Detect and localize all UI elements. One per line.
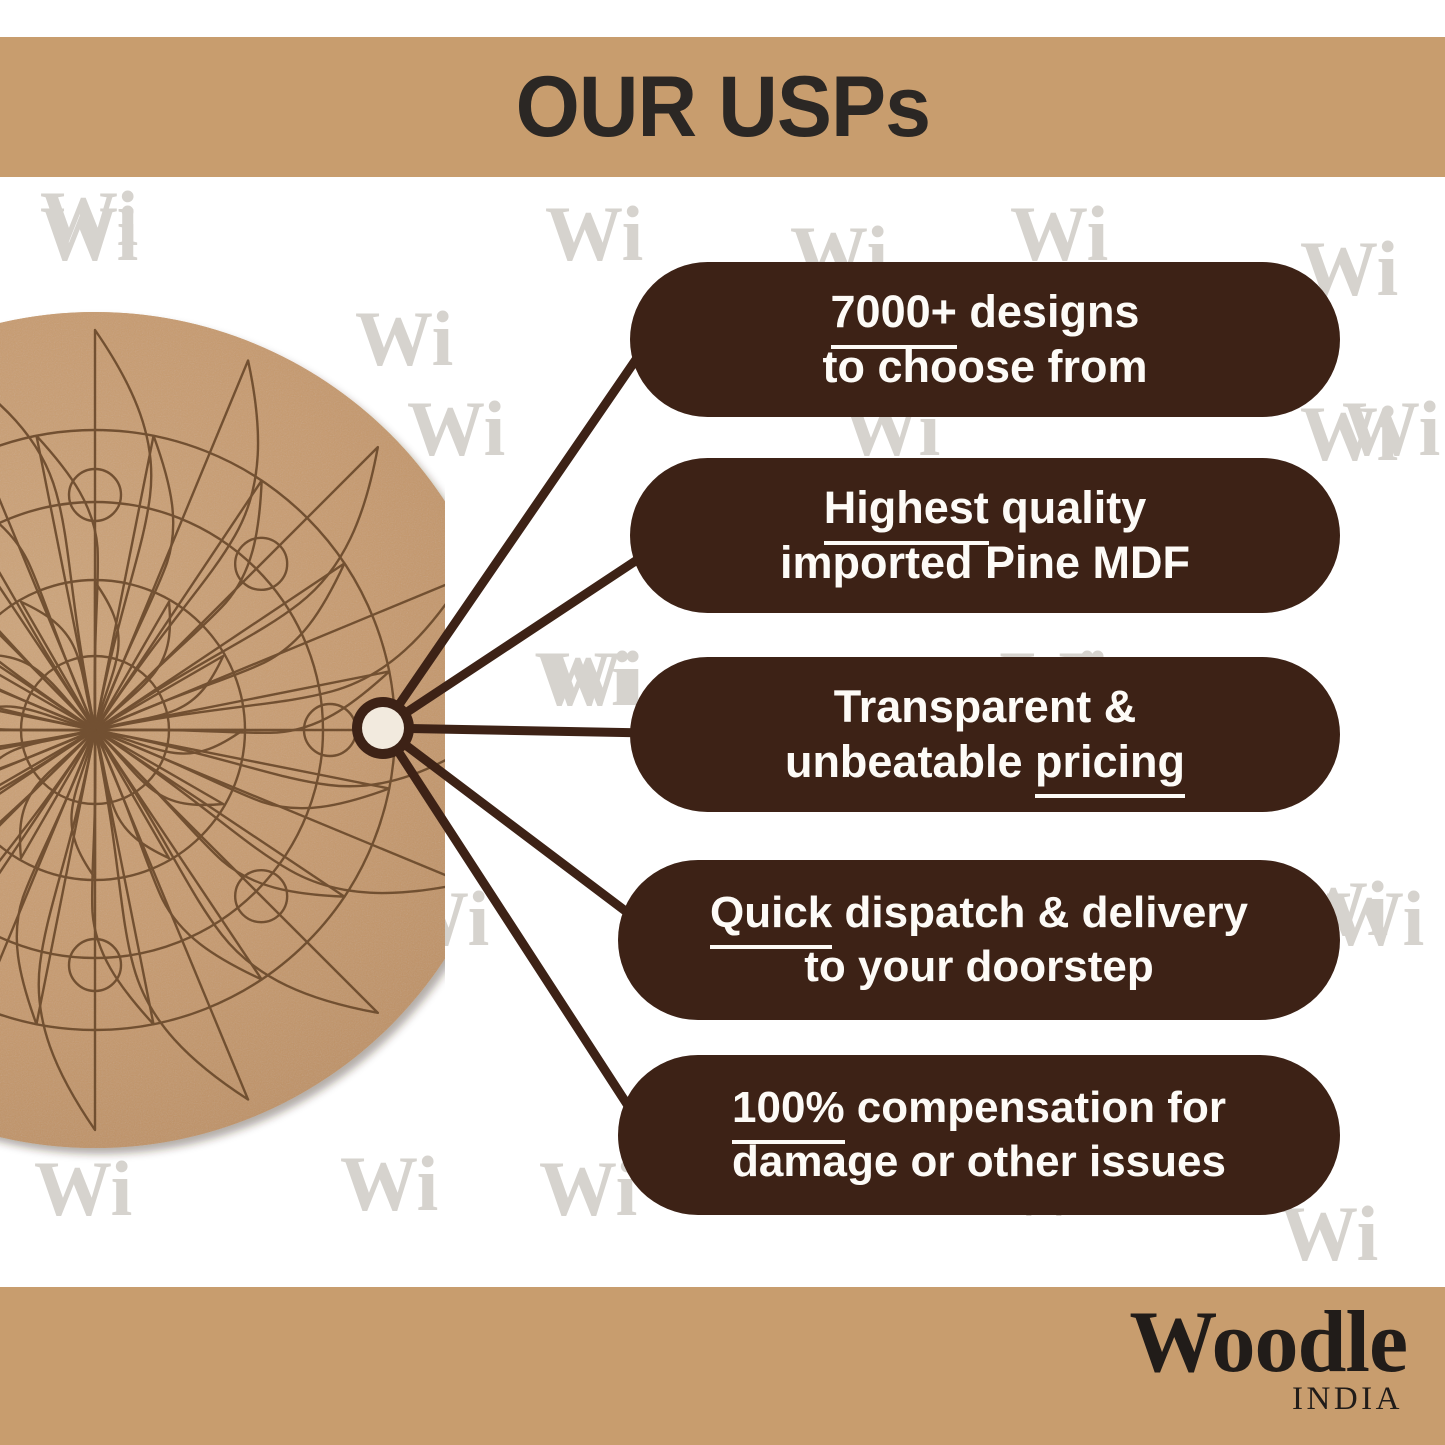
watermark-wi: Wi (40, 195, 138, 273)
watermark-wi: Wi (1342, 390, 1440, 468)
mandala-mdf-board (0, 300, 445, 1180)
footer-band: Woodle INDIA (0, 1287, 1445, 1445)
watermark-wi: Wi (40, 180, 138, 258)
usp-line-2: to your doorstep (804, 940, 1154, 994)
usp-rest: dispatch & delivery (832, 888, 1248, 937)
watermark-wi: Wi (1300, 395, 1398, 473)
usp-line-1: Quick dispatch & delivery (710, 886, 1248, 940)
usp-rest: compensation for (845, 1083, 1226, 1132)
watermark-wi: Wi (1326, 880, 1424, 958)
usp-line-1: Transparent & (834, 680, 1137, 735)
watermark-wi: Wi (545, 640, 643, 718)
usp-rest: quality (989, 482, 1147, 533)
usp-line-1: 7000+ designs (831, 285, 1140, 340)
usp-highlight: Quick (710, 886, 832, 940)
usp-highlight: Highest (824, 481, 989, 536)
usp-pill-quality[interactable]: Highest quality imported Pine MDF (630, 458, 1340, 613)
usp-line-1: 100% compensation for (732, 1081, 1226, 1135)
usp-line-2: unbeatable pricing (785, 735, 1185, 790)
infographic-canvas: WiWiWiWiWiWiWiWiWiWiWiWiWiWiWiWiWiWiWiWi… (0, 0, 1445, 1445)
brand-name: Woodle (1129, 1301, 1407, 1385)
usp-pill-dispatch[interactable]: Quick dispatch & delivery to your doorst… (618, 860, 1340, 1020)
brand-logo: Woodle INDIA (1129, 1301, 1407, 1418)
header-band: OUR USPs (0, 37, 1445, 177)
usp-highlight: 7000+ (831, 285, 957, 340)
usp-highlight: pricing (1035, 735, 1185, 790)
usp-line-1: Highest quality (824, 481, 1147, 536)
usp-pill-designs[interactable]: 7000+ designs to choose from (630, 262, 1340, 417)
usp-pre: unbeatable (785, 736, 1035, 787)
usp-highlight: 100% (732, 1081, 845, 1135)
watermark-wi: Wi (535, 640, 633, 718)
usp-pill-pricing[interactable]: Transparent & unbeatable pricing (630, 657, 1340, 812)
page-title: OUR USPs (515, 64, 929, 150)
usp-rest: designs (957, 286, 1140, 337)
usp-pill-compensation[interactable]: 100% compensation for damage or other is… (618, 1055, 1340, 1215)
watermark-wi: Wi (545, 195, 643, 273)
